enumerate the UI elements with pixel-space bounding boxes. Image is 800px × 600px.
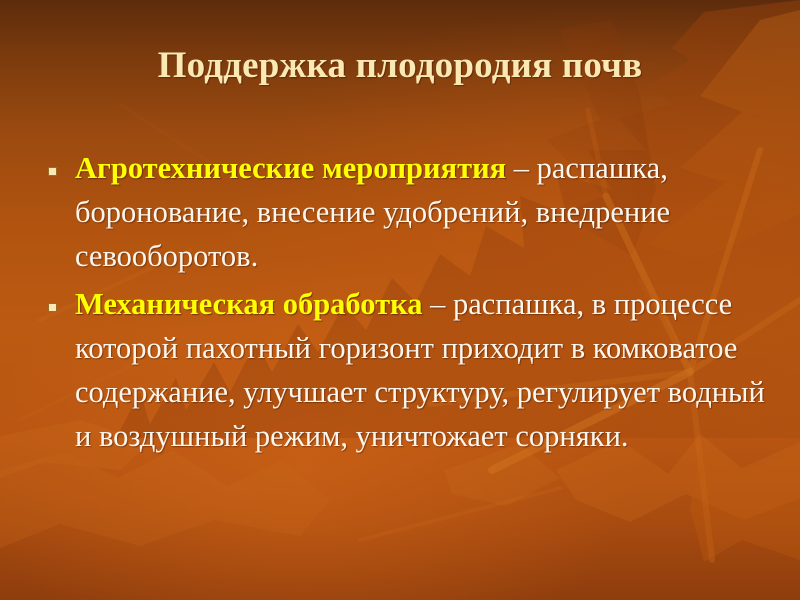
square-bullet-icon: [48, 167, 57, 176]
presentation-slide: Поддержка плодородия почв Агротехнически…: [0, 0, 800, 600]
bullet-list: Агротехнические мероприятия – распашка, …: [42, 146, 772, 462]
list-item-lead: Механическая обработка: [75, 287, 422, 321]
list-item-lead: Агротехнические мероприятия: [75, 151, 506, 185]
list-item: Агротехнические мероприятия – распашка, …: [42, 146, 772, 278]
page-title: Поддержка плодородия почв: [0, 44, 800, 87]
square-bullet-icon: [48, 303, 57, 312]
list-item: Механическая обработка – распашка, в про…: [42, 282, 772, 458]
